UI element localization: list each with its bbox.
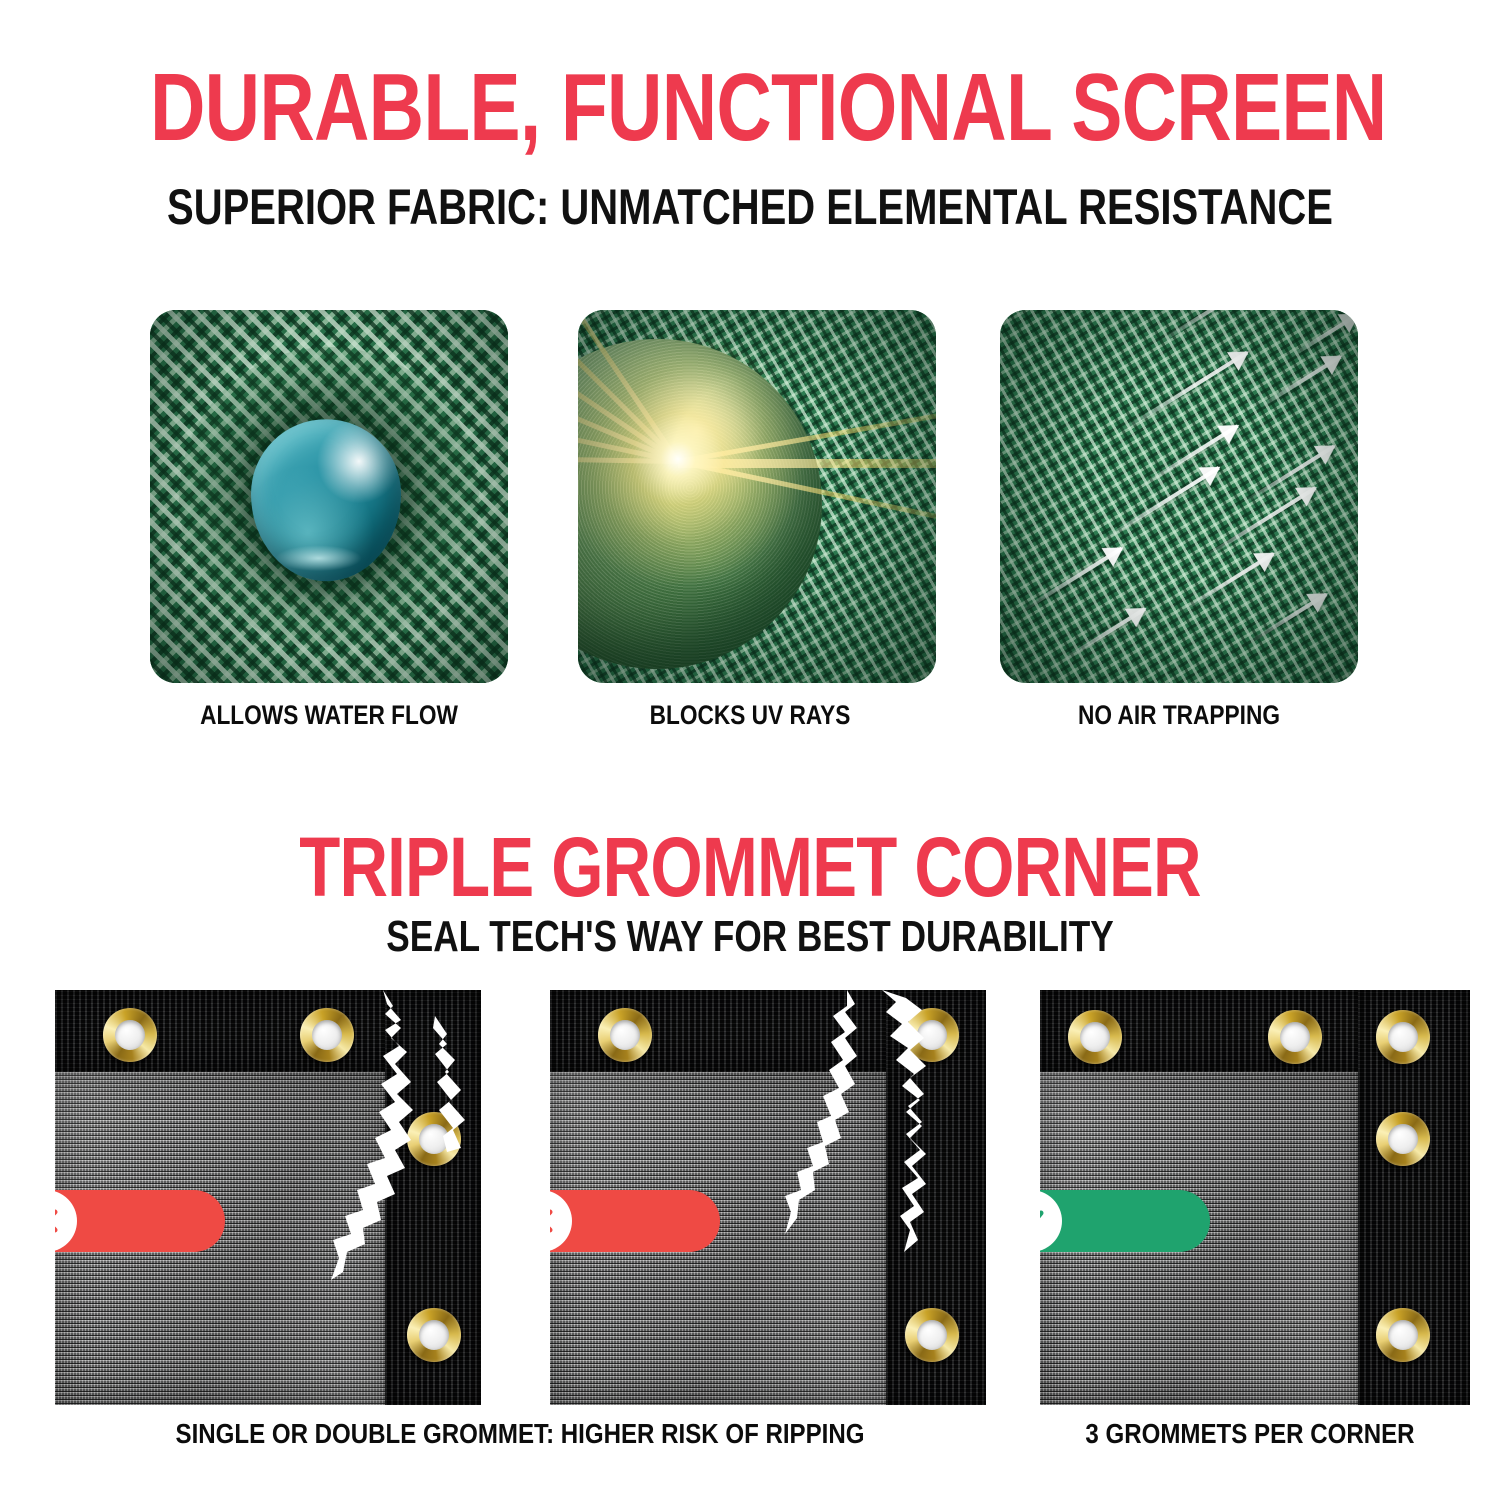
status-badge-good (1040, 1190, 1210, 1252)
tile-caption-air-trapping: NO AIR TRAPPING (1028, 700, 1330, 731)
tile-caption-uv-rays: BLOCKS UV RAYS (599, 700, 901, 731)
fabric-tile-uv-block (578, 310, 936, 683)
check-circle-icon (1040, 1190, 1062, 1252)
tear-rip-graphic (840, 990, 986, 1260)
tile-caption-water-flow: ALLOWS WATER FLOW (178, 700, 480, 731)
main-headline: DURABLE, FUNCTIONAL SCREEN (150, 58, 1350, 158)
tile-vignette (150, 310, 508, 683)
grommet-headline: TRIPLE GROMMET CORNER (150, 823, 1350, 911)
status-badge-bad (550, 1190, 720, 1252)
grommet (1376, 1308, 1430, 1362)
tarp-panel-triple-grommet (1040, 990, 1470, 1405)
grommet (1376, 1112, 1430, 1166)
tile-vignette (1000, 310, 1358, 683)
grommet (407, 1308, 461, 1362)
tarp-caption-three-grommets: 3 GROMMETS PER CORNER (1052, 1418, 1448, 1450)
grommet (1376, 1010, 1430, 1064)
grommet (598, 1008, 652, 1062)
tarp-caption-ripping-risk: SINGLE OR DOUBLE GROMMET: HIGHER RISK OF… (90, 1418, 950, 1450)
tarp-panel-double-grommet (550, 990, 986, 1405)
x-circle-icon (550, 1190, 572, 1252)
main-subheadline: SUPERIOR FABRIC: UNMATCHED ELEMENTAL RES… (150, 180, 1350, 234)
grommet (905, 1308, 959, 1362)
grommet-subheadline: SEAL TECH'S WAY FOR BEST DURABILITY (150, 913, 1350, 961)
tarp-panel-single-grommet (55, 990, 481, 1405)
fabric-tile-air-flow (1000, 310, 1358, 683)
status-badge-bad (55, 1190, 225, 1252)
grommet (1268, 1010, 1322, 1064)
x-circle-icon (55, 1190, 77, 1252)
tile-vignette (578, 310, 936, 683)
grommet (1068, 1010, 1122, 1064)
grommet (103, 1008, 157, 1062)
fabric-tile-water-flow (150, 310, 508, 683)
tear-rip-graphic (235, 990, 481, 1280)
